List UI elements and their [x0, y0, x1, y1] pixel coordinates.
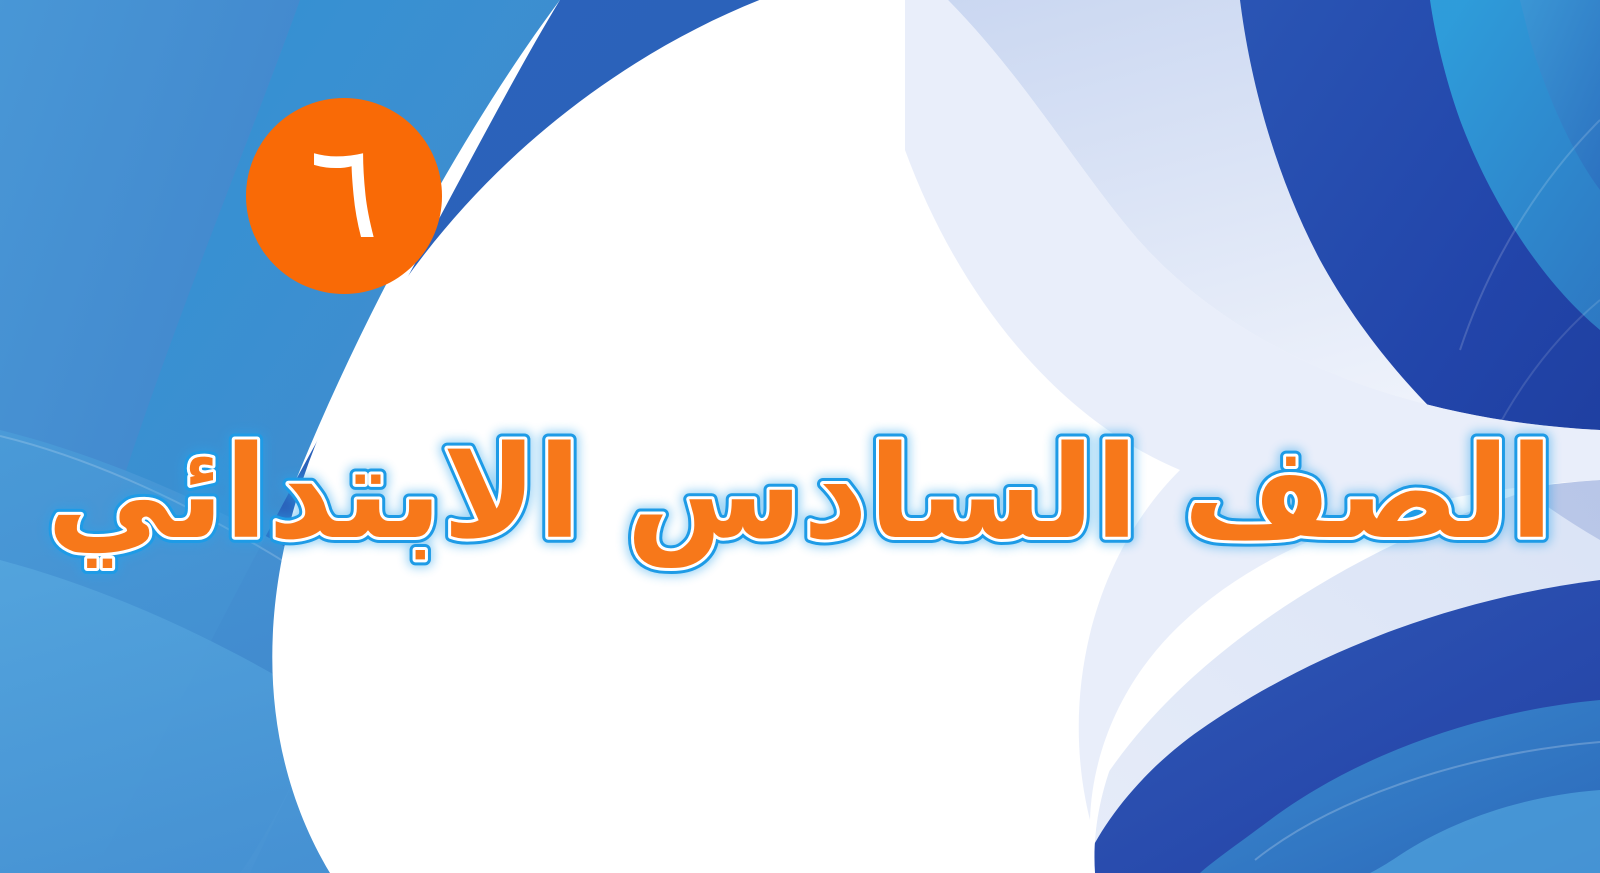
grade-number-text: ٦: [309, 126, 380, 258]
grade-number-badge: ٦: [246, 98, 442, 294]
cover-page: ٦ الصف السادس الابتدائي الصف السادس الاب…: [0, 0, 1600, 873]
background-decoration: [0, 0, 1600, 873]
